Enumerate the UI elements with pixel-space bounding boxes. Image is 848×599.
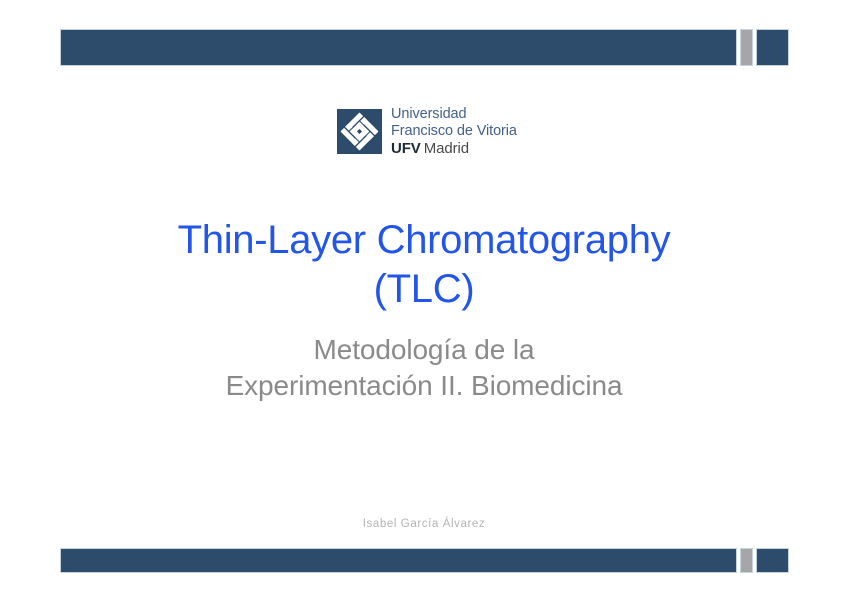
page-title-line-1: Thin-Layer Chromatography bbox=[0, 216, 848, 265]
bottom-decorative-bar-main bbox=[60, 548, 737, 573]
top-decorative-bar-main bbox=[60, 29, 737, 66]
presentation-title-slide: Universidad Francisco de Vitoria UFVMadr… bbox=[0, 0, 848, 599]
page-title-line-2: (TLC) bbox=[0, 265, 848, 314]
page-subtitle-line-1: Metodología de la bbox=[0, 332, 848, 368]
bottom-decorative-bar-end-block bbox=[756, 548, 789, 573]
top-decorative-bar-end-block bbox=[756, 29, 789, 66]
ufv-pinwheel-logo-mark bbox=[337, 109, 382, 154]
logo-city: Madrid bbox=[424, 140, 469, 157]
author-name: Isabel García Álvarez bbox=[0, 518, 848, 530]
bottom-decorative-bar-separator bbox=[740, 548, 753, 573]
logo-line-ufv-madrid: UFVMadrid bbox=[391, 140, 517, 158]
university-logo: Universidad Francisco de Vitoria UFVMadr… bbox=[337, 106, 517, 158]
university-logo-text: Universidad Francisco de Vitoria UFVMadr… bbox=[391, 106, 517, 158]
logo-line-francisco-de-vitoria: Francisco de Vitoria bbox=[391, 123, 517, 140]
page-title: Thin-Layer Chromatography (TLC) bbox=[0, 216, 848, 314]
logo-acronym: UFV bbox=[391, 140, 421, 157]
page-subtitle: Metodología de la Experimentación II. Bi… bbox=[0, 332, 848, 405]
page-subtitle-line-2: Experimentación II. Biomedicina bbox=[0, 368, 848, 404]
logo-line-universidad: Universidad bbox=[391, 106, 517, 123]
top-decorative-bar-separator bbox=[740, 29, 753, 66]
